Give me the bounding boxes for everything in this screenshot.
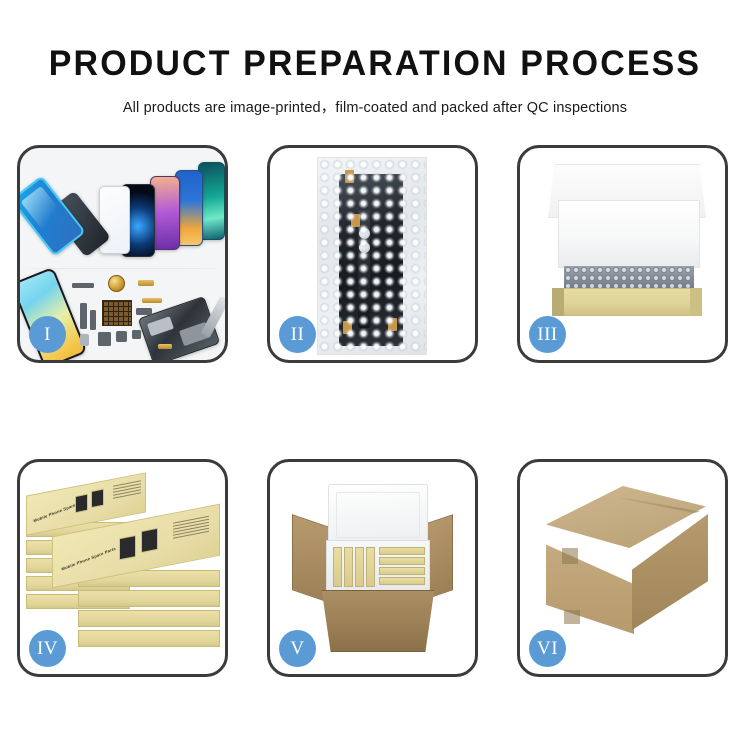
screen-protector-icon: [99, 186, 130, 254]
button-icon: [132, 330, 141, 339]
step-badge-4: IV: [29, 630, 66, 667]
packed-box-1: [333, 547, 342, 587]
box-window-2-icon: [91, 489, 104, 509]
tape-tab-left-icon: [343, 321, 352, 334]
flex-cable-2-icon: [90, 310, 96, 330]
logic-board-icon: [102, 300, 132, 326]
tape-tab-right-icon: [388, 318, 397, 331]
retail-box-front-2: [78, 610, 220, 627]
preparation-process-page: PRODUCT PREPARATION PROCESS All products…: [0, 0, 750, 750]
foam-container-icon: [326, 540, 430, 594]
small-part-icon: [72, 283, 94, 288]
box-window-1-icon: [75, 494, 88, 514]
foam-insert-icon: [558, 200, 700, 268]
connector-pad-1-icon: [359, 228, 370, 239]
flex-cable-icon: [80, 303, 87, 329]
tape-patch-lower-icon: [564, 610, 580, 624]
box-window-4-icon: [141, 528, 158, 553]
process-step-grid: I II: [17, 145, 733, 677]
packed-box-5: [379, 547, 425, 555]
retail-box-front-1: [78, 630, 220, 647]
retail-box-front-3: [78, 590, 220, 607]
page-header: PRODUCT PREPARATION PROCESS All products…: [0, 0, 750, 117]
screen-assembly-icon: [339, 174, 403, 346]
screw-set-icon: [158, 344, 172, 349]
tape-tab-top-icon: [345, 170, 354, 183]
packed-box-3: [355, 547, 364, 587]
page-subtitle: All products are image-printed，film-coat…: [0, 96, 750, 117]
ribbon-icon: [136, 308, 152, 315]
step-badge-2: II: [279, 316, 316, 353]
box-spec-lines-rear: [113, 480, 141, 500]
box-side-left-icon: [552, 288, 564, 316]
screen-flex-cable-icon: [358, 210, 370, 328]
step-panel-5[interactable]: V: [267, 459, 478, 677]
step-panel-1[interactable]: I: [17, 145, 228, 363]
step-badge-3: III: [529, 316, 566, 353]
step-panel-4[interactable]: Mobile Phone Spare Parts Mobile Phone Sp…: [17, 459, 228, 677]
packed-box-4: [366, 547, 375, 587]
packed-box-2: [344, 547, 353, 587]
step-panel-6[interactable]: VI: [517, 459, 728, 677]
packed-box-6: [379, 557, 425, 565]
speaker-coil-icon: [108, 275, 125, 292]
packed-box-7: [379, 567, 425, 575]
tape-patch-upper-icon: [562, 548, 578, 564]
box-spec-lines-front: [173, 516, 209, 541]
tape-tab-mid-icon: [351, 214, 360, 227]
box-front-icon: [552, 288, 702, 316]
step-badge-5: V: [279, 630, 316, 667]
box-side-right-icon: [690, 288, 702, 316]
step-badge-1: I: [29, 316, 66, 353]
connector-pad-2-icon: [359, 242, 370, 253]
sim-tray-icon: [80, 334, 89, 346]
step-panel-3[interactable]: III: [517, 145, 728, 363]
vibrator-icon: [116, 331, 127, 342]
page-title: PRODUCT PREPARATION PROCESS: [11, 44, 739, 84]
bubble-wrap-bag-icon: [317, 157, 427, 355]
box-window-3-icon: [119, 535, 136, 560]
gold-flex-icon: [142, 298, 162, 303]
camera-module-icon: [98, 332, 111, 346]
gold-connector-icon: [138, 280, 154, 286]
carton-body-icon: [314, 590, 442, 652]
step-badge-6: VI: [529, 630, 566, 667]
step-panel-2[interactable]: II: [267, 145, 478, 363]
retail-box-label-front: Mobile Phone Spare Parts: [61, 546, 116, 572]
packed-box-8: [379, 577, 425, 585]
foam-lid-icon: [328, 484, 428, 546]
